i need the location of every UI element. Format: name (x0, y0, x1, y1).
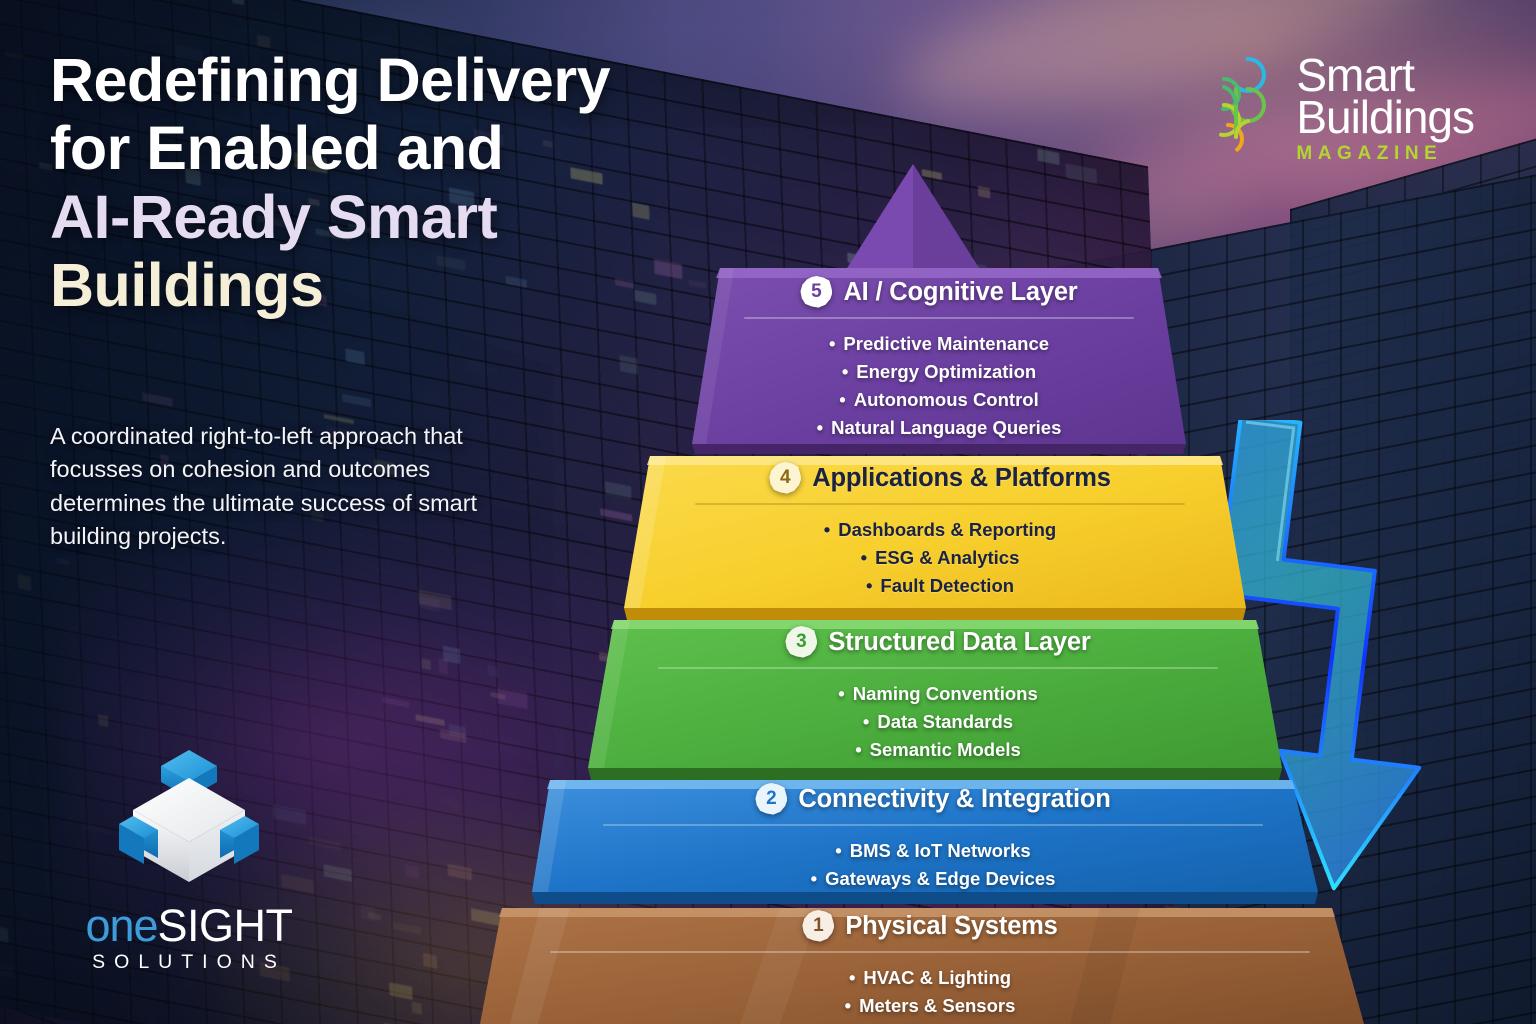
magazine-name-line-2: Buildings (1296, 94, 1474, 140)
list-item: Autonomous Control (722, 386, 1156, 414)
layer-1-divider (550, 951, 1310, 953)
layer-4-divider (695, 503, 1185, 505)
pyramid-layer-2[interactable]: 2 Connectivity & Integration BMS & IoT N… (528, 772, 1338, 904)
isometric-cube-icon (114, 879, 264, 896)
list-item: Fault Detection (678, 572, 1202, 600)
interlocking-circles-icon (1202, 53, 1280, 162)
layer-5-bullets: Predictive Maintenance Energy Optimizati… (722, 330, 1156, 442)
subtitle-text: A coordinated right-to-left approach tha… (50, 420, 530, 553)
layer-number-badge-2: 2 (755, 783, 787, 815)
layer-2-bullets: BMS & IoT Networks Gateways & Edge Devic… (588, 837, 1278, 893)
pyramid-layer-3[interactable]: 3 Structured Data Layer Naming Conventio… (578, 612, 1298, 780)
list-item: Predictive Maintenance (722, 330, 1156, 358)
headline-line-1: Redefining Delivery (50, 46, 790, 114)
list-item: Natural Language Queries (722, 414, 1156, 442)
pyramid-layer-1[interactable]: 1 Physical Systems HVAC & Lighting Meter… (480, 898, 1380, 1024)
layer-1-title: Physical Systems (845, 912, 1057, 941)
list-item: Meters & Sensors (540, 992, 1320, 1020)
list-item: Gateways & Edge Devices (588, 865, 1278, 893)
page-title: Redefining Delivery for Enabled and AI-R… (50, 46, 790, 319)
layer-1-bullets: HVAC & Lighting Meters & Sensors (540, 964, 1320, 1020)
layer-number-badge-4: 4 (769, 462, 801, 494)
onesight-word-sight: SIGHT (158, 900, 293, 951)
list-item: Energy Optimization (722, 358, 1156, 386)
list-item: BMS & IoT Networks (588, 837, 1278, 865)
layer-2-heading: 2 Connectivity & Integration (588, 783, 1278, 815)
headline-line-2: for Enabled and (50, 114, 790, 182)
onesight-wordmark: oneSIGHT SOLUTIONS (74, 903, 304, 973)
layer-number-badge-1: 1 (802, 910, 834, 942)
layer-4-bullets: Dashboards & Reporting ESG & Analytics F… (678, 516, 1202, 600)
layer-number-badge-3: 3 (785, 626, 817, 658)
smart-buildings-magazine-logo: Smart Buildings MAGAZINE (1202, 52, 1474, 163)
list-item: ESG & Analytics (678, 544, 1202, 572)
list-item: Dashboards & Reporting (678, 516, 1202, 544)
layer-4-title: Applications & Platforms (812, 464, 1110, 493)
layer-number-badge-5: 5 (800, 276, 832, 308)
magazine-label: MAGAZINE (1296, 144, 1474, 163)
list-item: Data Standards (638, 708, 1238, 736)
onesight-tagline: SOLUTIONS (74, 953, 304, 973)
list-item: Naming Conventions (638, 680, 1238, 708)
layer-2-title: Connectivity & Integration (798, 785, 1110, 814)
layer-4-heading: 4 Applications & Platforms (678, 462, 1202, 494)
list-item: Semantic Models (638, 736, 1238, 764)
layer-3-bullets: Naming Conventions Data Standards Semant… (638, 680, 1238, 764)
onesight-word-one: one (85, 900, 157, 951)
onesight-solutions-logo: oneSIGHT SOLUTIONS (74, 742, 304, 973)
headline-line-4: Buildings (50, 251, 790, 319)
pyramid-layer-4[interactable]: 4 Applications & Platforms Dashboards & … (618, 448, 1262, 620)
layer-3-divider (658, 667, 1218, 669)
list-item: HVAC & Lighting (540, 964, 1320, 992)
layer-5-title: AI / Cognitive Layer (843, 278, 1077, 307)
layer-2-divider (603, 824, 1263, 826)
headline-line-3: AI-Ready Smart (50, 183, 790, 251)
layer-3-title: Structured Data Layer (828, 628, 1090, 657)
layer-1-heading: 1 Physical Systems (540, 910, 1320, 942)
layer-3-heading: 3 Structured Data Layer (638, 626, 1238, 658)
magazine-wordmark: Smart Buildings MAGAZINE (1296, 52, 1474, 163)
layer-5-divider (744, 317, 1134, 319)
